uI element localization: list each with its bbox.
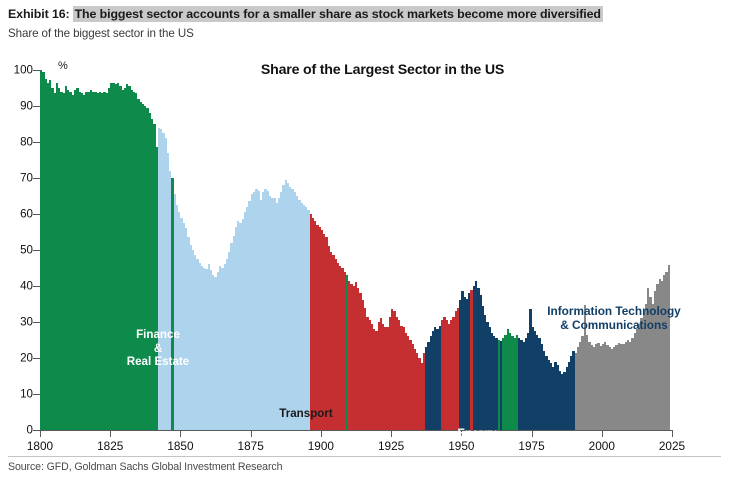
exhibit-headline: The biggest sector accounts for a smalle… (73, 6, 603, 22)
x-tick-label: 1975 (518, 439, 544, 453)
y-tick-label: 100 (3, 64, 33, 77)
y-tick-mark (33, 70, 40, 71)
y-tick-label: 10 (3, 388, 33, 401)
x-tick-label: 1850 (167, 439, 193, 453)
x-tick-mark (40, 431, 41, 437)
x-tick-label: 2000 (589, 439, 615, 453)
bar-series (40, 70, 672, 430)
exhibit-subtitle: Share of the biggest sector in the US (8, 27, 194, 40)
y-tick-mark (33, 322, 40, 323)
y-tick-label: 0 (3, 424, 33, 437)
y-tick-mark (33, 178, 40, 179)
x-axis-line (40, 430, 673, 431)
x-tick-mark (672, 431, 673, 437)
y-tick-label: 30 (3, 316, 33, 329)
x-tick-mark (110, 431, 111, 437)
x-tick-label: 1825 (97, 439, 123, 453)
x-tick-mark (251, 431, 252, 437)
y-tick-mark (33, 430, 40, 431)
exhibit-header: Exhibit 16: The biggest sector accounts … (8, 6, 723, 22)
y-tick-mark (33, 358, 40, 359)
y-tick-label: 60 (3, 208, 33, 221)
y-tick-label: 80 (3, 136, 33, 149)
source-note: Source: GFD, Goldman Sachs Global Invest… (8, 461, 282, 473)
x-tick-mark (602, 431, 603, 437)
x-tick-mark (180, 431, 181, 437)
y-tick-mark (33, 142, 40, 143)
exhibit-page: Exhibit 16: The biggest sector accounts … (0, 0, 729, 481)
x-tick-mark (532, 431, 533, 437)
y-tick-label: 50 (3, 244, 33, 257)
plot-region: Finance & Real Estate Transport Energy &… (40, 70, 672, 430)
y-tick-label: 90 (3, 100, 33, 113)
y-tick-label: 70 (3, 172, 33, 185)
x-tick-label: 1875 (238, 439, 264, 453)
bar (668, 265, 670, 430)
y-tick-mark (33, 286, 40, 287)
x-tick-mark (321, 431, 322, 437)
x-tick-mark (391, 431, 392, 437)
y-tick-label: 20 (3, 352, 33, 365)
x-tick-label: 1900 (308, 439, 334, 453)
sector-annotation-energy: Energy & Materials (422, 427, 532, 468)
chart-area: Share of the Largest Sector in the US % … (0, 48, 729, 442)
exhibit-number: Exhibit 16: (8, 7, 73, 21)
source-divider (8, 456, 721, 457)
x-tick-label: 1950 (448, 439, 474, 453)
x-tick-mark (461, 431, 462, 437)
y-tick-label: 40 (3, 280, 33, 293)
x-tick-label: 1800 (27, 439, 53, 453)
y-tick-mark (33, 214, 40, 215)
y-tick-mark (33, 250, 40, 251)
y-tick-mark (33, 106, 40, 107)
x-tick-label: 2025 (659, 439, 685, 453)
y-tick-mark (33, 394, 40, 395)
x-tick-label: 1925 (378, 439, 404, 453)
